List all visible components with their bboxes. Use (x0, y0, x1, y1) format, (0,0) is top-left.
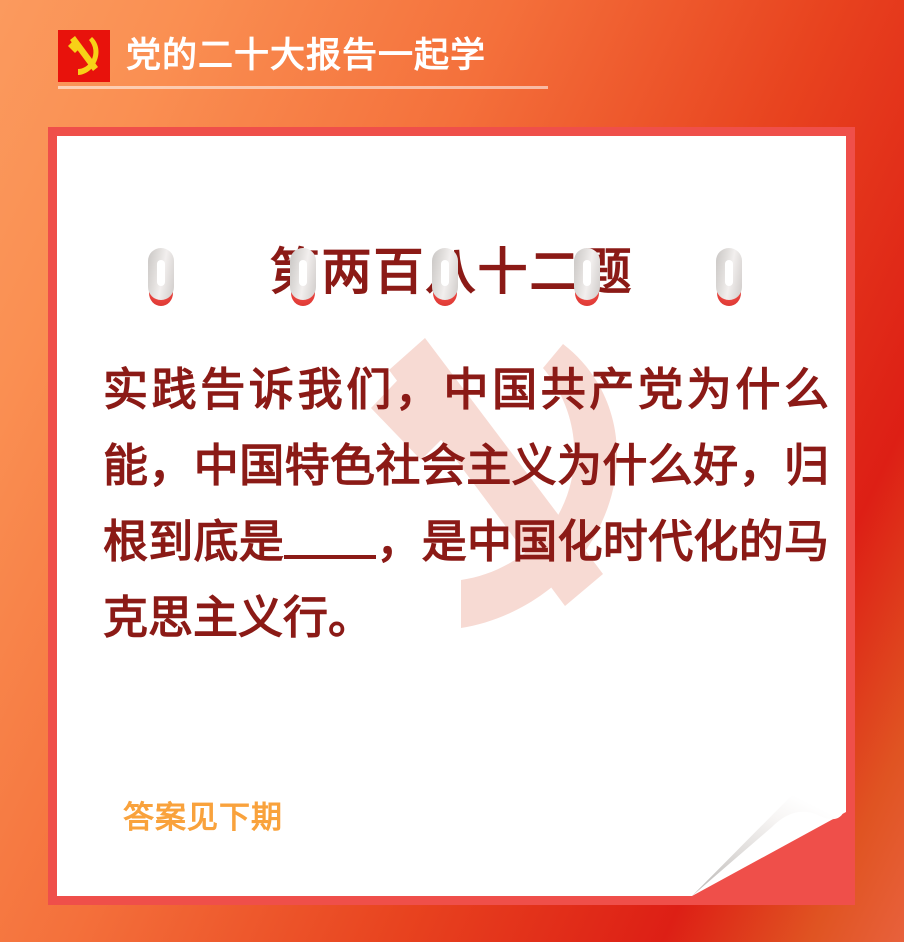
header-divider (58, 86, 548, 89)
binder-ring-1 (148, 248, 174, 310)
binder-ring-slot (441, 260, 449, 286)
binder-ring-slot (299, 260, 307, 286)
binder-ring-pill (574, 248, 600, 300)
header-title: 党的二十大报告一起学 (126, 26, 486, 86)
binder-ring-pill (148, 248, 174, 300)
answer-note: 答案见下期 (123, 798, 283, 838)
question-body-text: 实践告诉我们，中国共产党为什么能，中国特色社会主义为什么好，归根到底是，是中国化… (103, 352, 829, 656)
hammer-sickle-emblem-icon (58, 30, 110, 82)
header: 党的二十大报告一起学 (58, 26, 558, 88)
binder-ring-pill (716, 248, 742, 300)
binder-ring-slot (157, 260, 165, 286)
card-page: 第两百八十二题 实践告诉我们，中国共产党为什么能，中国特色社会主义为什么好，归根… (57, 136, 846, 896)
page-curl-icon (674, 771, 846, 896)
binder-ring-4 (574, 248, 600, 310)
question-card: 第两百八十二题 实践告诉我们，中国共产党为什么能，中国特色社会主义为什么好，归根… (48, 127, 855, 905)
binder-ring-2 (290, 248, 316, 310)
answer-blank-underline (284, 555, 376, 559)
binder-ring-pill (432, 248, 458, 300)
binder-ring-slot (725, 260, 733, 286)
binder-ring-3 (432, 248, 458, 310)
poster-root: 党的二十大报告一起学 (0, 0, 904, 942)
binder-ring-5 (716, 248, 742, 310)
binder-ring-pill (290, 248, 316, 300)
binder-ring-slot (583, 260, 591, 286)
